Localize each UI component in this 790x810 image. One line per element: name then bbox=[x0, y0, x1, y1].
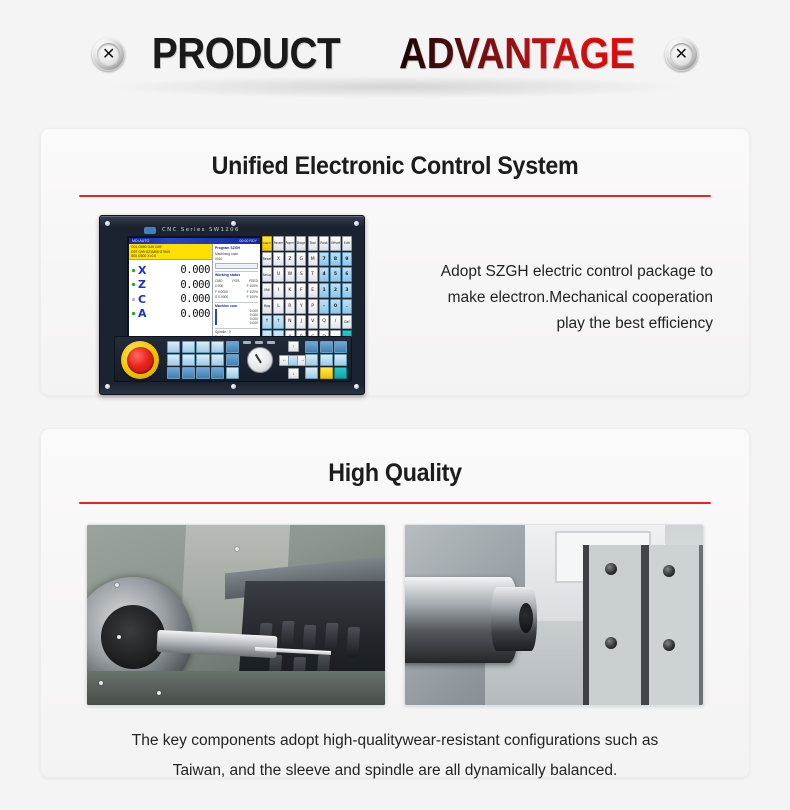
key-5[interactable]: 5 bbox=[330, 267, 340, 282]
cnc-controller-panel: CNC Series SW1206 MDI AUTO 00:00 RDY G01… bbox=[99, 215, 365, 395]
spindle-indicator-icons bbox=[243, 339, 279, 346]
info-col-head: CMD bbox=[215, 279, 223, 283]
info-head-program: Program SZGH bbox=[215, 246, 258, 250]
section-description: Adopt SZGH electric control package to m… bbox=[383, 259, 713, 337]
key-2[interactable]: 2 bbox=[330, 283, 340, 298]
turret-tool bbox=[346, 627, 360, 657]
key-6[interactable]: 6 bbox=[342, 267, 352, 282]
coord-value: 0.000 bbox=[219, 321, 258, 325]
section-title: High Quality bbox=[66, 459, 724, 488]
collet-chuck bbox=[491, 587, 537, 651]
screen-banner: G01 G080 G40 G49 G97 G99 G21M05 G7000 S0… bbox=[129, 244, 212, 260]
key-k[interactable]: K bbox=[285, 283, 295, 298]
coolant-hose bbox=[197, 524, 211, 537]
photo-row bbox=[41, 524, 749, 706]
axis-name: C bbox=[138, 294, 149, 305]
key-reset[interactable]: Reset bbox=[262, 252, 272, 267]
panel-screw-icon bbox=[354, 221, 359, 226]
key-s[interactable]: S bbox=[296, 267, 306, 282]
axis-row: C 0.000 bbox=[132, 293, 210, 305]
key-7[interactable]: 7 bbox=[319, 252, 329, 267]
key-prgrm[interactable]: Prgrm bbox=[285, 236, 295, 251]
page-title-product: PRODUCT bbox=[152, 32, 340, 76]
section-title: Unified Electronic Control System bbox=[66, 152, 724, 181]
key-r[interactable]: R bbox=[285, 299, 295, 314]
coolant-hose bbox=[239, 524, 253, 537]
banner-line: S00 G500 X=0.0 bbox=[131, 254, 210, 259]
function-key[interactable] bbox=[211, 367, 224, 379]
panel-screw-icon bbox=[231, 384, 236, 389]
coord-marker-icon bbox=[215, 309, 217, 325]
cnc-brand-text: CNC Series SW1206 bbox=[162, 227, 240, 233]
description-line: Adopt SZGH electric control package to bbox=[383, 259, 713, 285]
function-key[interactable] bbox=[211, 341, 224, 353]
info-cell: F 100% bbox=[247, 284, 258, 288]
key-z[interactable]: Z bbox=[285, 252, 295, 267]
cnc-operator-panel: ↑ ← → ↓ bbox=[114, 336, 352, 382]
key-u[interactable]: U bbox=[273, 267, 283, 282]
key-dot[interactable]: . bbox=[342, 299, 352, 314]
jog-down-arrow-icon[interactable]: ↓ bbox=[288, 368, 299, 379]
axis-status-dot-icon bbox=[132, 283, 135, 286]
key-slash[interactable]: / bbox=[330, 315, 340, 330]
key-p[interactable]: P bbox=[308, 299, 318, 314]
info-cell: 0.000 bbox=[215, 284, 223, 288]
x-glyph: ✕ bbox=[675, 46, 688, 62]
page-title-advantage: ADVANTAGE bbox=[399, 32, 635, 76]
key-n[interactable]: N bbox=[285, 315, 295, 330]
axis-row: A 0.000 bbox=[132, 308, 210, 320]
info-line-code-number: 0010 bbox=[215, 257, 258, 261]
info-col-head: POS bbox=[232, 279, 239, 283]
function-key[interactable] bbox=[211, 354, 224, 366]
key-i[interactable]: I bbox=[273, 283, 283, 298]
axis-value: 0.000 bbox=[180, 308, 210, 320]
function-key[interactable] bbox=[182, 367, 195, 379]
coolant-hose bbox=[280, 524, 295, 537]
mode-key[interactable] bbox=[305, 341, 318, 353]
cnc-screen: MDI AUTO 00:00 RDY G01 G080 G40 G49 G97 … bbox=[127, 236, 262, 345]
function-key[interactable] bbox=[226, 341, 239, 353]
function-key[interactable] bbox=[196, 367, 209, 379]
caption-line: Taiwan, and the sleeve and spindle are a… bbox=[85, 756, 705, 786]
mode-key[interactable] bbox=[320, 354, 333, 366]
function-key[interactable] bbox=[226, 367, 239, 379]
rail-bolt bbox=[663, 565, 675, 577]
description-line: make electron.Mechanical cooperation bbox=[383, 285, 713, 311]
mode-key[interactable] bbox=[334, 354, 347, 366]
key-f[interactable]: F bbox=[296, 283, 306, 298]
axis-readout: X 0.000 Z 0.000 C bbox=[129, 260, 212, 339]
info-cell: S 0.0000 bbox=[215, 295, 228, 299]
description-line: play the best efficiency bbox=[383, 311, 713, 337]
axis-value: 0.000 bbox=[180, 279, 210, 291]
caption-line: The key components adopt high-qualitywea… bbox=[85, 726, 705, 756]
function-key[interactable] bbox=[167, 354, 180, 366]
axis-status-dot-icon bbox=[132, 269, 135, 272]
key-4[interactable]: 4 bbox=[319, 267, 329, 282]
x-screw-icon-left: ✕ bbox=[92, 38, 125, 71]
coolant-icon bbox=[255, 341, 263, 344]
x-glyph: ✕ bbox=[102, 46, 115, 62]
turret-tool bbox=[324, 623, 338, 653]
info-cell: F 100% bbox=[247, 290, 258, 294]
key-9[interactable]: 9 bbox=[342, 252, 352, 267]
key-mpg[interactable]: Mpg bbox=[262, 299, 272, 314]
cycle-stop-key[interactable] bbox=[334, 367, 347, 379]
key-w[interactable]: W bbox=[285, 267, 295, 282]
info-cell: F 100% bbox=[247, 295, 258, 299]
axis-name: A bbox=[138, 308, 149, 319]
key-e[interactable]: E bbox=[308, 283, 318, 298]
machine-base bbox=[87, 671, 386, 705]
info-head-machine-coor: Machine coor bbox=[215, 302, 258, 308]
jog-up-arrow-icon[interactable]: ↑ bbox=[288, 341, 299, 352]
info-foot: Spindle : 0 bbox=[215, 328, 258, 334]
product-advantage-page: ✕ PRODUCT ADVANTAGE ✕ Unified Electronic… bbox=[0, 0, 790, 810]
key-t[interactable]: T bbox=[308, 267, 318, 282]
function-key-grid[interactable] bbox=[167, 341, 239, 379]
header-shadow bbox=[110, 76, 680, 98]
section-divider bbox=[79, 502, 711, 504]
key-m[interactable]: M bbox=[308, 252, 318, 267]
function-key[interactable] bbox=[226, 354, 239, 366]
photo-spindle-rails bbox=[404, 524, 704, 706]
key-j[interactable]: J bbox=[296, 315, 306, 330]
info-tool-box bbox=[215, 263, 258, 269]
mode-key-grid[interactable] bbox=[305, 341, 347, 379]
axis-name: Z bbox=[138, 279, 149, 290]
key-del[interactable]: Del bbox=[342, 315, 352, 330]
mode-key[interactable] bbox=[334, 341, 347, 353]
rail-bolt bbox=[605, 637, 617, 649]
key-g[interactable]: G bbox=[296, 252, 306, 267]
key-mdi[interactable]: Mdi bbox=[262, 283, 272, 298]
info-col-head: FEED bbox=[249, 279, 258, 283]
key-edit[interactable]: Edit bbox=[342, 236, 352, 251]
key-y[interactable]: Y bbox=[296, 299, 306, 314]
key-up-arrow-icon[interactable]: ↑ bbox=[262, 315, 272, 330]
emergency-stop-cap bbox=[127, 347, 154, 374]
key-tool[interactable]: Tool bbox=[308, 236, 318, 251]
feed-override-dial[interactable] bbox=[247, 347, 273, 373]
cnc-keypad[interactable]: Alarm Param Prgrm Diagn Tool Posit Offse… bbox=[262, 236, 352, 345]
chuck-icon bbox=[267, 341, 275, 344]
key-v[interactable]: V bbox=[308, 315, 318, 330]
axis-row: Z 0.000 bbox=[132, 279, 210, 291]
key-3[interactable]: 3 bbox=[342, 283, 352, 298]
info-head-working-status: Working status bbox=[215, 271, 258, 277]
screen-info-panel: Program SZGH Machining code 0010 Working… bbox=[213, 244, 260, 345]
function-key[interactable] bbox=[182, 354, 195, 366]
key-alarm[interactable]: Alarm bbox=[262, 236, 272, 251]
key-offset[interactable]: Offset bbox=[330, 236, 340, 251]
axis-status-dot-icon bbox=[132, 312, 135, 315]
turret-tool bbox=[281, 621, 295, 651]
szgh-logo-icon bbox=[144, 227, 156, 234]
panel-screw-icon bbox=[105, 221, 110, 226]
function-key[interactable] bbox=[167, 367, 180, 379]
axis-name: X bbox=[138, 265, 149, 276]
photo-lathe-coolant bbox=[86, 524, 386, 706]
mode-key[interactable] bbox=[305, 367, 318, 379]
section-card-control-system: Unified Electronic Control System CNC Se… bbox=[40, 128, 750, 396]
panel-screw-icon bbox=[354, 384, 359, 389]
key-posit[interactable]: Posit bbox=[319, 236, 329, 251]
page-header: ✕ PRODUCT ADVANTAGE ✕ bbox=[0, 14, 790, 94]
rail-bolt bbox=[663, 639, 675, 651]
function-key[interactable] bbox=[182, 341, 195, 353]
info-cell: F 0.0000 bbox=[215, 290, 228, 294]
cnc-brand: CNC Series SW1206 bbox=[144, 225, 294, 235]
axis-row: X 0.000 bbox=[132, 264, 210, 276]
section-card-high-quality: High Quality bbox=[40, 428, 750, 778]
key-minus[interactable]: - bbox=[319, 299, 329, 314]
rail-bolt bbox=[605, 563, 617, 575]
mode-key[interactable] bbox=[305, 354, 318, 366]
key-l[interactable]: L bbox=[273, 299, 283, 314]
key-param[interactable]: Param bbox=[273, 236, 283, 251]
key-1[interactable]: 1 bbox=[319, 283, 329, 298]
function-key[interactable] bbox=[196, 341, 209, 353]
key-0[interactable]: 0 bbox=[330, 299, 340, 314]
axis-value: 0.000 bbox=[180, 293, 210, 305]
key-8[interactable]: 8 bbox=[330, 252, 340, 267]
cycle-start-key[interactable] bbox=[320, 367, 333, 379]
function-key[interactable] bbox=[196, 354, 209, 366]
function-key[interactable] bbox=[167, 341, 180, 353]
key-diagn[interactable]: Diagn bbox=[296, 236, 306, 251]
emergency-stop-button[interactable] bbox=[121, 341, 159, 379]
linear-guide-rails bbox=[583, 545, 703, 706]
axis-status-dot-icon bbox=[132, 298, 135, 301]
spindle-icon bbox=[243, 341, 251, 344]
panel-screw-icon bbox=[105, 384, 110, 389]
mode-key[interactable] bbox=[320, 341, 333, 353]
key-x[interactable]: X bbox=[273, 252, 283, 267]
section-caption: The key components adopt high-qualitywea… bbox=[41, 726, 749, 786]
key-setup[interactable]: Setup bbox=[262, 267, 272, 282]
axis-value: 0.000 bbox=[180, 264, 210, 276]
info-line-machining-code: Machining code bbox=[215, 252, 258, 256]
key-q[interactable]: Q bbox=[319, 315, 329, 330]
key-up2-arrow-icon[interactable]: ↑ bbox=[273, 315, 283, 330]
x-screw-icon-right: ✕ bbox=[665, 38, 698, 71]
